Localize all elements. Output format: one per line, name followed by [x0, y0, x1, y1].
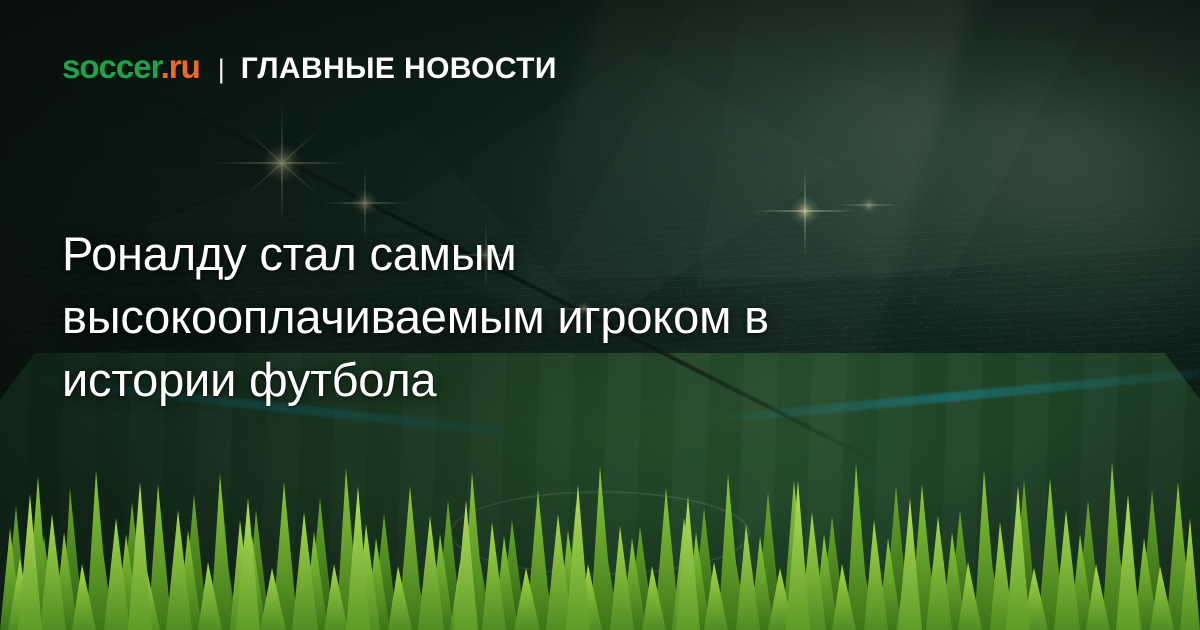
headline-line: высокооплачиваемым игроком в	[62, 285, 1022, 348]
brand-header: soccer.ru | ГЛАВНЫЕ НОВОСТИ	[62, 50, 557, 84]
page-title: Роналду стал самым высокооплачиваемым иг…	[62, 222, 1022, 411]
soccer-ru-logo[interactable]: soccer.ru	[62, 50, 200, 83]
header-separator: |	[218, 56, 225, 83]
foreground-grass	[0, 440, 1200, 630]
logo-name-part: soccer	[62, 48, 161, 85]
headline-line: истории футбола	[62, 348, 1022, 411]
header-kicker: ГЛАВНЫЕ НОВОСТИ	[241, 54, 557, 84]
news-share-card: soccer.ru | ГЛАВНЫЕ НОВОСТИ Роналду стал…	[0, 0, 1200, 630]
headline-line: Роналду стал самым	[62, 222, 1022, 285]
logo-domain-part: .ru	[161, 48, 200, 85]
